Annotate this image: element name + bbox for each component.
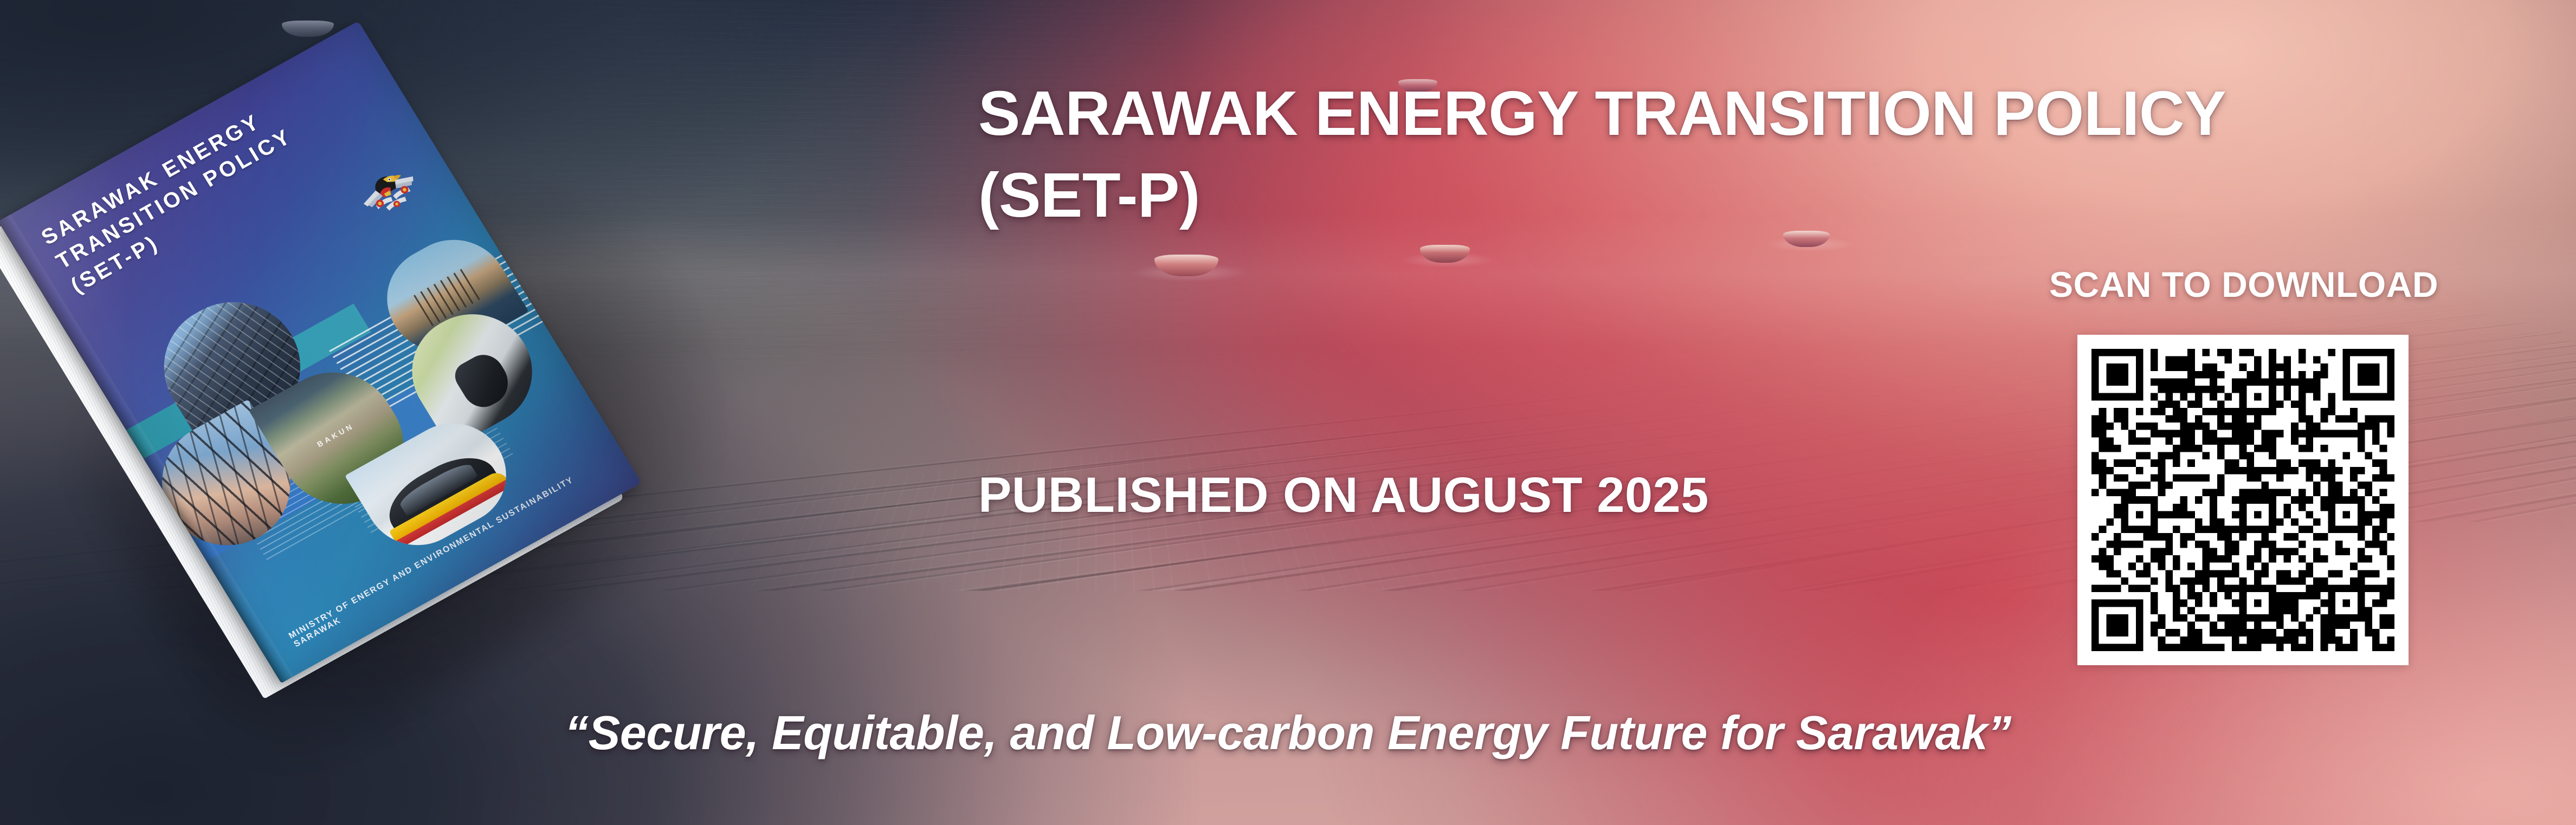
qr-code[interactable] bbox=[2077, 335, 2409, 665]
scan-to-download-label: SCAN TO DOWNLOAD bbox=[2016, 264, 2471, 305]
qr-code-canvas[interactable] bbox=[2091, 349, 2394, 651]
policy-tagline-quote: “Secure, Equitable, and Low-carbon Energ… bbox=[0, 705, 2576, 761]
published-date-label: PUBLISHED ON AUGUST 2025 bbox=[978, 467, 1709, 524]
page-title: SARAWAK ENERGY TRANSITION POLICY (SET-P) bbox=[978, 73, 2366, 236]
boat-icon bbox=[282, 21, 334, 37]
page-title-line-2: (SET-P) bbox=[978, 160, 1200, 230]
page-title-line-1: SARAWAK ENERGY TRANSITION POLICY bbox=[978, 78, 2226, 148]
set-p-promo-banner: SARAWAK ENERGY TRANSITION POLICY (SET-P) bbox=[0, 0, 2576, 825]
boat-icon bbox=[1420, 245, 1470, 263]
boat-icon bbox=[1154, 255, 1218, 276]
